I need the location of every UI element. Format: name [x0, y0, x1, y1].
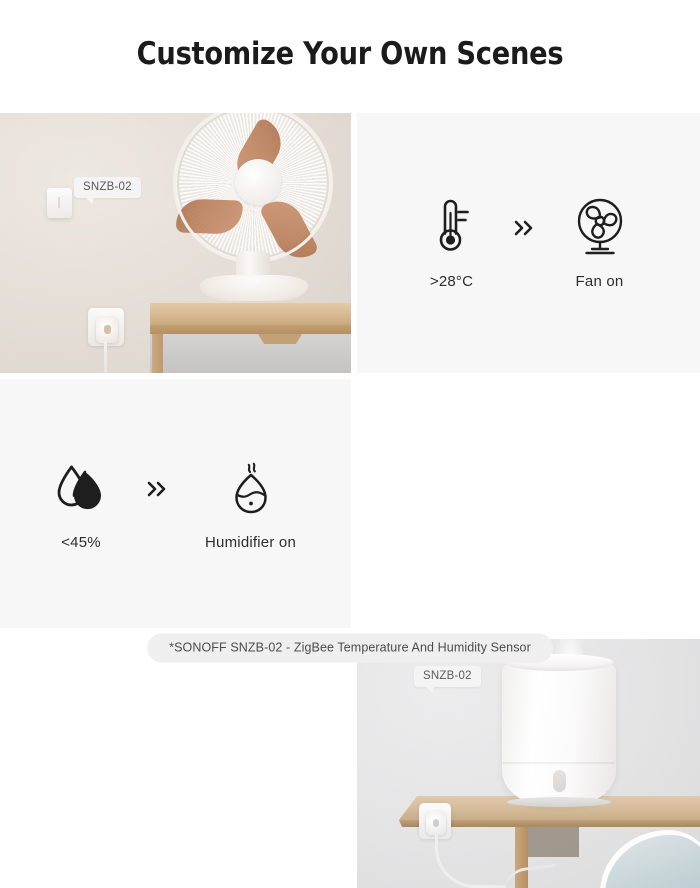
fan-icon	[572, 196, 628, 258]
rule-row-temperature: >28°C	[357, 196, 700, 290]
scenes-grid: SNZB-02 >28°C	[0, 113, 700, 628]
double-chevron-right-icon	[143, 458, 169, 520]
double-chevron-right-icon	[510, 197, 536, 259]
scene-rule-temperature: >28°C	[357, 113, 700, 373]
rule-row-humidity: <45%	[0, 457, 351, 551]
scene-photo-fan: SNZB-02	[0, 113, 351, 373]
device-callout-snzb-02: SNZB-02	[74, 177, 141, 198]
desk-edge	[150, 325, 351, 334]
rule-action-fan: Fan on	[572, 196, 628, 290]
rule-action-humidifier: Humidifier on	[205, 457, 296, 551]
humidifier-base	[507, 797, 611, 807]
rule-condition-temperature: >28°C	[430, 196, 474, 290]
smart-plug-outlet	[433, 819, 439, 827]
power-cable	[435, 834, 505, 888]
power-cord	[104, 341, 107, 373]
chair	[605, 835, 700, 888]
fan-base	[200, 275, 308, 301]
scene-rule-humidity: <45%	[0, 379, 351, 628]
device-callout-snzb-02: SNZB-02	[414, 666, 481, 687]
desk-leg	[152, 334, 163, 373]
desk-panel	[150, 334, 351, 373]
sensor-detail	[58, 197, 60, 208]
table-shadow	[527, 827, 579, 857]
humidifier-power-button	[553, 770, 566, 792]
thermometer-icon	[430, 196, 474, 258]
rule-condition-label: >28°C	[430, 273, 473, 290]
humidifier-seam	[503, 762, 615, 764]
table-fan	[168, 113, 351, 318]
rule-action-label: Humidifier on	[205, 534, 296, 551]
scene-photo-humidifier: SNZB-02	[357, 639, 700, 888]
rule-condition-humidity: <45%	[55, 457, 107, 551]
desk-notch	[258, 334, 302, 344]
power-cable-segment	[502, 864, 559, 888]
humidity-drop-icon	[55, 457, 107, 519]
rule-action-label: Fan on	[576, 273, 624, 290]
page-title: Customize Your Own Scenes	[42, 36, 658, 72]
footnote-pill: *SONOFF SNZB-02 - ZigBee Temperature And…	[147, 634, 553, 663]
rule-condition-label: <45%	[61, 534, 101, 551]
humidifier-icon	[226, 457, 276, 519]
smart-plug-outlet	[104, 325, 111, 334]
